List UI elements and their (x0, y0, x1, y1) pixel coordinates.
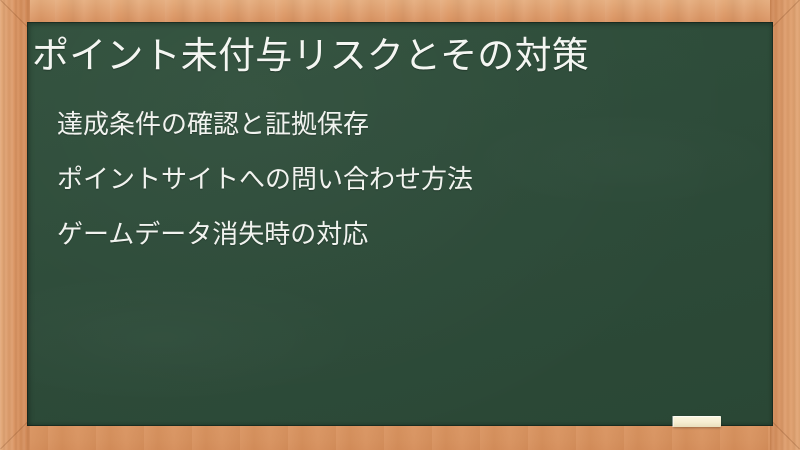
frame-stile-right (770, 0, 800, 450)
bullet-item-2: ポイントサイトへの問い合わせ方法 (57, 167, 473, 193)
frame-rail-top (0, 0, 800, 24)
chalk-stick-icon (673, 416, 721, 427)
bullet-item-3: ゲームデータ消失時の対応 (57, 222, 473, 248)
frame-stile-left (0, 0, 30, 450)
slide-title: ポイント未付与リスクとその対策 (32, 33, 589, 78)
bullet-item-1: 達成条件の確認と証拠保存 (57, 112, 473, 138)
slide-stage: ポイント未付与リスクとその対策 達成条件の確認と証拠保存 ポイントサイトへの問い… (0, 0, 800, 450)
bullet-list: 達成条件の確認と証拠保存 ポイントサイトへの問い合わせ方法 ゲームデータ消失時の… (57, 112, 473, 248)
chalkboard: ポイント未付与リスクとその対策 達成条件の確認と証拠保存 ポイントサイトへの問い… (27, 22, 773, 426)
frame-rail-bottom (0, 426, 800, 450)
